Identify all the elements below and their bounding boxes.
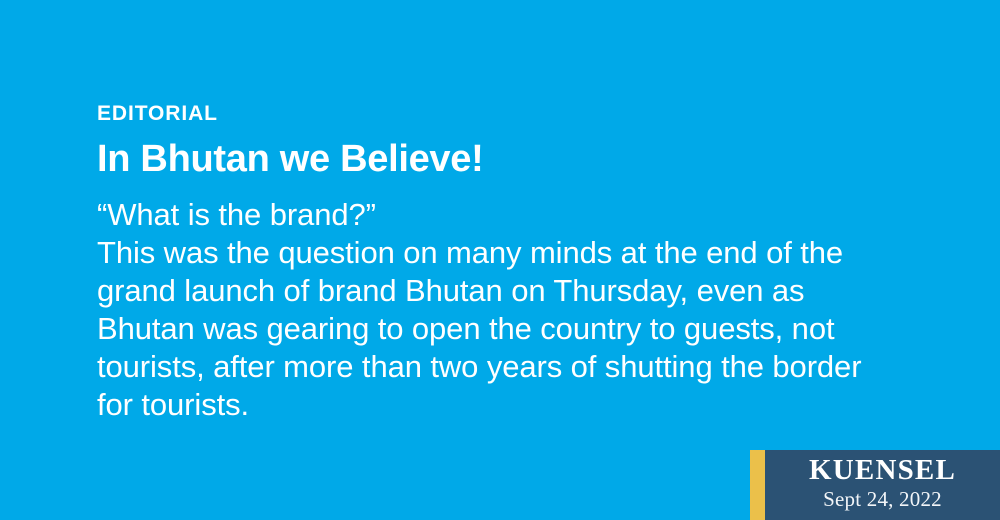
masthead-wordmark: KUENSEL	[809, 456, 956, 485]
gold-accent-bar	[750, 450, 765, 520]
kuensel-logo-block: KUENSEL Sept 24, 2022	[750, 450, 1000, 520]
article-body: “What is the brand?” This was the questi…	[97, 196, 897, 424]
editorial-card: EDITORIAL In Bhutan we Believe! “What is…	[0, 0, 1000, 520]
masthead-panel: KUENSEL Sept 24, 2022	[765, 450, 1000, 520]
article-content: EDITORIAL In Bhutan we Believe! “What is…	[97, 103, 897, 424]
article-headline: In Bhutan we Believe!	[97, 140, 897, 178]
article-kicker: EDITORIAL	[97, 103, 897, 124]
issue-date: Sept 24, 2022	[823, 489, 942, 510]
